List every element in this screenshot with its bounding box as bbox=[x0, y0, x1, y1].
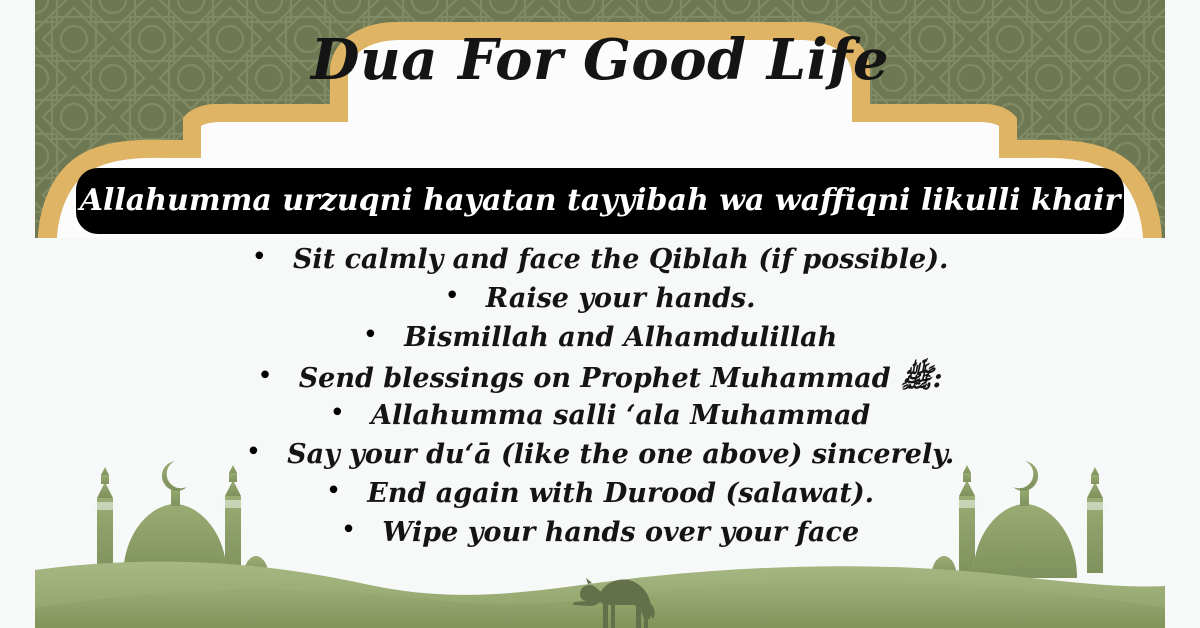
bullet-icon: • bbox=[252, 244, 267, 270]
bullet-icon: • bbox=[330, 400, 345, 426]
bullet-icon: • bbox=[363, 322, 378, 348]
mosque-right bbox=[931, 461, 1107, 580]
page-title: Dua For Good Life bbox=[0, 27, 1200, 93]
list-item: • Bismillah and Alhamdulillah bbox=[0, 322, 1200, 361]
dua-banner-text: Allahumma urzuqni hayatan tayyibah wa wa… bbox=[80, 186, 1121, 216]
crescent-right bbox=[1013, 461, 1038, 491]
poster-canvas: Dua For Good Life Allahumma urzuqni haya… bbox=[0, 0, 1200, 628]
list-item: • Raise your hands. bbox=[0, 283, 1200, 322]
list-item-label: Allahumma salli ‘ala Muhammad bbox=[371, 400, 870, 431]
list-item-label: Raise your hands. bbox=[486, 283, 756, 314]
bottom-scene bbox=[35, 458, 1165, 628]
list-item-label: Send blessings on Prophet Muhammad ﷺ: bbox=[299, 361, 943, 401]
bullet-icon: • bbox=[444, 283, 459, 309]
list-item: • Sit calmly and face the Qiblah (if pos… bbox=[0, 244, 1200, 283]
list-item-label: Sit calmly and face the Qiblah (if possi… bbox=[293, 244, 948, 275]
list-item: • Allahumma salli ‘ala Muhammad bbox=[0, 400, 1200, 439]
dua-banner: Allahumma urzuqni hayatan tayyibah wa wa… bbox=[76, 168, 1124, 234]
list-item: • Send blessings on Prophet Muhammad ﷺ: bbox=[0, 361, 1200, 400]
bullet-icon: • bbox=[257, 363, 272, 389]
crescent-left bbox=[162, 461, 187, 491]
list-item-label: Bismillah and Alhamdulillah bbox=[404, 322, 837, 353]
